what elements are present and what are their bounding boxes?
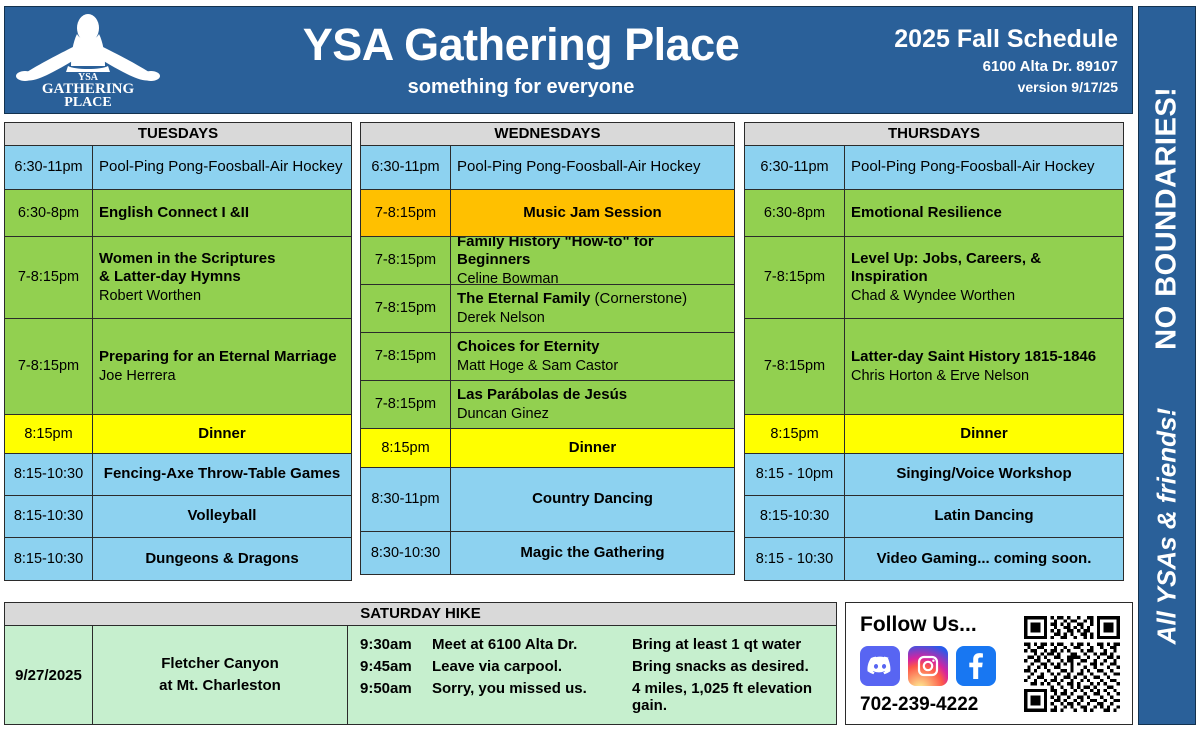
rows-tuesdays: 6:30-11pmPool-Ping Pong-Foosball-Air Hoc… xyxy=(5,146,351,580)
follow-us-title: Follow Us... xyxy=(860,613,1024,637)
schedule-row: 8:15-10:30Fencing-Axe Throw-Table Games xyxy=(5,454,351,496)
event-presenter: Derek Nelson xyxy=(457,309,545,327)
social-links xyxy=(860,646,1024,686)
side-banner-script: All YSAs & friends! xyxy=(1152,408,1183,644)
event-presenter: Chad & Wyndee Worthen xyxy=(851,287,1015,305)
column-thursdays: THURSDAYS 6:30-11pmPool-Ping Pong-Foosba… xyxy=(744,122,1124,581)
logo-text-place: PLACE xyxy=(64,95,111,108)
hike-item-time: 9:45am xyxy=(360,658,432,675)
rows-thursdays: 6:30-11pmPool-Ping Pong-Foosball-Air Hoc… xyxy=(745,146,1123,580)
qr-code-icon xyxy=(1024,616,1120,712)
row-content: English Connect I &II xyxy=(93,190,351,236)
ysa-gathering-place-logo-icon: YSA GATHERING PLACE xyxy=(13,12,163,108)
event-title: Volleyball xyxy=(188,507,257,525)
row-content: Music Jam Session xyxy=(451,190,734,236)
event-title: Preparing for an Eternal Marriage xyxy=(99,348,337,366)
event-title: Dungeons & Dragons xyxy=(145,550,298,568)
schedule-row: 8:30-10:30Magic the Gathering xyxy=(361,532,734,574)
event-title: The Eternal Family (Cornerstone) xyxy=(457,290,687,308)
row-time: 7-8:15pm xyxy=(361,285,451,332)
schedule-row: 7-8:15pmThe Eternal Family (Cornerstone)… xyxy=(361,285,734,333)
page-title: YSA Gathering Place xyxy=(170,21,872,68)
row-time: 7-8:15pm xyxy=(361,190,451,236)
event-title: Dinner xyxy=(569,439,617,457)
schedule-row: 7-8:15pmLas Parábolas de JesúsDuncan Gin… xyxy=(361,381,734,429)
row-content: Women in the Scriptures& Latter-day Hymn… xyxy=(93,237,351,318)
event-title: Singing/Voice Workshop xyxy=(896,465,1071,483)
hike-item-time: 9:50am xyxy=(360,680,432,714)
schedule-row: 7-8:15pmPreparing for an Eternal Marriag… xyxy=(5,319,351,415)
schedule-row: 6:30-8pmEmotional Resilience xyxy=(745,190,1123,237)
event-title: Pool-Ping Pong-Foosball-Air Hockey xyxy=(457,158,700,176)
event-title: Emotional Resilience xyxy=(851,204,1002,222)
row-time: 8:15-10:30 xyxy=(5,454,93,495)
hike-schedule-item: 9:50amSorry, you missed us.4 miles, 1,02… xyxy=(360,680,836,714)
row-content: Dinner xyxy=(451,429,734,467)
hike-schedule-list: 9:30amMeet at 6100 Alta Dr.Bring at leas… xyxy=(348,626,836,724)
event-presenter: Duncan Ginez xyxy=(457,405,549,423)
schedule-row: 8:15 - 10:30Video Gaming... coming soon. xyxy=(745,538,1123,580)
row-time: 7-8:15pm xyxy=(745,319,845,414)
row-content: Volleyball xyxy=(93,496,351,537)
row-content: Pool-Ping Pong-Foosball-Air Hockey xyxy=(845,146,1123,189)
schedule-row: 6:30-11pmPool-Ping Pong-Foosball-Air Hoc… xyxy=(361,146,734,190)
column-header-wednesdays: WEDNESDAYS xyxy=(361,123,734,146)
facebook-icon[interactable] xyxy=(956,646,996,686)
row-time: 8:15pm xyxy=(5,415,93,453)
row-content: Pool-Ping Pong-Foosball-Air Hockey xyxy=(93,146,351,189)
row-time: 7-8:15pm xyxy=(745,237,845,318)
column-header-thursdays: THURSDAYS xyxy=(745,123,1123,146)
version-label: version 9/17/25 xyxy=(882,79,1118,95)
event-title: Video Gaming... coming soon. xyxy=(877,550,1092,568)
row-time: 7-8:15pm xyxy=(361,237,451,284)
event-title-line2: & Latter-day Hymns xyxy=(99,268,241,286)
row-time: 7-8:15pm xyxy=(5,319,93,414)
column-tuesdays: TUESDAYS 6:30-11pmPool-Ping Pong-Foosbal… xyxy=(4,122,352,581)
row-content: Pool-Ping Pong-Foosball-Air Hockey xyxy=(451,146,734,189)
rows-wednesdays: 6:30-11pmPool-Ping Pong-Foosball-Air Hoc… xyxy=(361,146,734,574)
event-title: English Connect I &II xyxy=(99,204,249,222)
hike-item-action: Sorry, you missed us. xyxy=(432,680,632,714)
row-time: 7-8:15pm xyxy=(361,333,451,380)
event-title: Level Up: Jobs, Careers, & Inspiration xyxy=(851,250,1117,287)
row-content: Dinner xyxy=(93,415,351,453)
row-content: Video Gaming... coming soon. xyxy=(845,538,1123,580)
row-content: Latin Dancing xyxy=(845,496,1123,537)
event-title: Dinner xyxy=(198,425,246,443)
schedule-row: 7-8:15pmMusic Jam Session xyxy=(361,190,734,237)
row-time: 8:30-10:30 xyxy=(361,532,451,574)
event-title: Music Jam Session xyxy=(523,204,661,222)
row-time: 8:15pm xyxy=(361,429,451,467)
hike-date: 9/27/2025 xyxy=(5,626,93,724)
event-presenter: Chris Horton & Erve Nelson xyxy=(851,367,1029,385)
discord-icon[interactable] xyxy=(860,646,900,686)
event-title: Pool-Ping Pong-Foosball-Air Hockey xyxy=(851,158,1094,176)
row-content: The Eternal Family (Cornerstone)Derek Ne… xyxy=(451,285,734,332)
schedule-row: 8:15pmDinner xyxy=(5,415,351,454)
row-content: Country Dancing xyxy=(451,468,734,531)
schedule-row: 8:15-10:30Dungeons & Dragons xyxy=(5,538,351,580)
schedule-row: 8:15pmDinner xyxy=(361,429,734,468)
hike-item-action: Leave via carpool. xyxy=(432,658,632,675)
title-block: YSA Gathering Place something for everyo… xyxy=(170,21,882,99)
schedule-row: 6:30-8pmEnglish Connect I &II xyxy=(5,190,351,237)
row-time: 6:30-11pm xyxy=(361,146,451,189)
row-content: Dinner xyxy=(845,415,1123,453)
hike-item-note: Bring snacks as desired. xyxy=(632,658,836,675)
schedule-row: 7-8:15pmLevel Up: Jobs, Careers, & Inspi… xyxy=(745,237,1123,319)
row-content: Emotional Resilience xyxy=(845,190,1123,236)
follow-us-box: Follow Us... xyxy=(845,602,1133,725)
hike-item-time: 9:30am xyxy=(360,636,432,653)
day-columns: TUESDAYS 6:30-11pmPool-Ping Pong-Foosbal… xyxy=(4,122,1133,595)
event-title: Country Dancing xyxy=(532,490,653,508)
row-content: Magic the Gathering xyxy=(451,532,734,574)
schedule-poster: YSA GATHERING PLACE YSA Gathering Place … xyxy=(0,0,1200,731)
schedule-row: 8:15-10:30Latin Dancing xyxy=(745,496,1123,538)
row-content: Family History "How-to" for BeginnersCel… xyxy=(451,237,734,284)
phone-number: 702-239-4222 xyxy=(860,694,1024,716)
qr-code[interactable] xyxy=(1024,616,1120,712)
row-content: Las Parábolas de JesúsDuncan Ginez xyxy=(451,381,734,428)
event-title: Dinner xyxy=(960,425,1008,443)
page-header: YSA GATHERING PLACE YSA Gathering Place … xyxy=(4,6,1133,114)
schedule-row: 7-8:15pmChoices for EternityMatt Hoge & … xyxy=(361,333,734,381)
row-content: Choices for EternityMatt Hoge & Sam Cast… xyxy=(451,333,734,380)
event-title: Las Parábolas de Jesús xyxy=(457,386,627,404)
event-presenter: Robert Worthen xyxy=(99,287,201,305)
instagram-icon[interactable] xyxy=(908,646,948,686)
side-banner: All YSAs & friends! NO BOUNDARIES! xyxy=(1138,6,1196,725)
row-time: 8:15-10:30 xyxy=(745,496,845,537)
row-time: 6:30-8pm xyxy=(745,190,845,236)
event-title-suffix: (Cornerstone) xyxy=(590,290,687,307)
saturday-hike-box: SATURDAY HIKE 9/27/2025 Fletcher Canyon … xyxy=(4,602,837,725)
event-title: Latin Dancing xyxy=(934,507,1033,525)
schedule-row: 8:15pmDinner xyxy=(745,415,1123,454)
row-time: 6:30-11pm xyxy=(5,146,93,189)
event-title: Latter-day Saint History 1815-1846 xyxy=(851,348,1096,366)
hike-location: Fletcher Canyon at Mt. Charleston xyxy=(93,626,348,724)
hike-header: SATURDAY HIKE xyxy=(5,603,836,626)
row-content: Dungeons & Dragons xyxy=(93,538,351,580)
event-title: Magic the Gathering xyxy=(520,544,664,562)
row-content: Fencing-Axe Throw-Table Games xyxy=(93,454,351,495)
event-presenter: Matt Hoge & Sam Castor xyxy=(457,357,618,375)
schedule-row: 7-8:15pmFamily History "How-to" for Begi… xyxy=(361,237,734,285)
row-time: 7-8:15pm xyxy=(361,381,451,428)
row-time: 8:15 - 10:30 xyxy=(745,538,845,580)
row-time: 8:30-11pm xyxy=(361,468,451,531)
hike-item-note: 4 miles, 1,025 ft elevation gain. xyxy=(632,680,836,714)
schedule-row: 6:30-11pmPool-Ping Pong-Foosball-Air Hoc… xyxy=(745,146,1123,190)
row-content: Singing/Voice Workshop xyxy=(845,454,1123,495)
schedule-row: 6:30-11pmPool-Ping Pong-Foosball-Air Hoc… xyxy=(5,146,351,190)
bottom-section: SATURDAY HIKE 9/27/2025 Fletcher Canyon … xyxy=(4,602,1133,725)
season-label: 2025 Fall Schedule xyxy=(882,25,1118,54)
hike-schedule-item: 9:30amMeet at 6100 Alta Dr.Bring at leas… xyxy=(360,636,836,653)
side-banner-bold: NO BOUNDARIES! xyxy=(1151,87,1184,350)
schedule-row: 7-8:15pmLatter-day Saint History 1815-18… xyxy=(745,319,1123,415)
row-time: 6:30-11pm xyxy=(745,146,845,189)
event-title: Women in the Scriptures xyxy=(99,250,275,268)
event-title: Family History "How-to" for Beginners xyxy=(457,237,728,270)
column-header-tuesdays: TUESDAYS xyxy=(5,123,351,146)
page-subtitle: something for everyone xyxy=(170,76,872,99)
row-time: 6:30-8pm xyxy=(5,190,93,236)
row-time: 8:15-10:30 xyxy=(5,538,93,580)
row-time: 8:15pm xyxy=(745,415,845,453)
row-content: Preparing for an Eternal MarriageJoe Her… xyxy=(93,319,351,414)
schedule-row: 8:15-10:30Volleyball xyxy=(5,496,351,538)
hike-location-line2: at Mt. Charleston xyxy=(159,675,281,697)
row-time: 7-8:15pm xyxy=(5,237,93,318)
hike-item-action: Meet at 6100 Alta Dr. xyxy=(432,636,632,653)
schedule-row: 7-8:15pmWomen in the Scriptures& Latter-… xyxy=(5,237,351,319)
row-time: 8:15-10:30 xyxy=(5,496,93,537)
address-label: 6100 Alta Dr. 89107 xyxy=(882,58,1118,75)
header-meta: 2025 Fall Schedule 6100 Alta Dr. 89107 v… xyxy=(882,25,1132,95)
row-time: 8:15 - 10pm xyxy=(745,454,845,495)
schedule-row: 8:15 - 10pmSinging/Voice Workshop xyxy=(745,454,1123,496)
row-content: Latter-day Saint History 1815-1846Chris … xyxy=(845,319,1123,414)
hike-item-note: Bring at least 1 qt water xyxy=(632,636,836,653)
hike-location-line1: Fletcher Canyon xyxy=(161,653,279,675)
event-title: Choices for Eternity xyxy=(457,338,600,356)
event-title: Pool-Ping Pong-Foosball-Air Hockey xyxy=(99,158,342,176)
logo: YSA GATHERING PLACE xyxy=(5,8,170,112)
row-content: Level Up: Jobs, Careers, & InspirationCh… xyxy=(845,237,1123,318)
event-presenter: Celine Bowman xyxy=(457,270,559,285)
column-wednesdays: WEDNESDAYS 6:30-11pmPool-Ping Pong-Foosb… xyxy=(360,122,735,575)
event-presenter: Joe Herrera xyxy=(99,367,176,385)
hike-schedule-item: 9:45amLeave via carpool.Bring snacks as … xyxy=(360,658,836,675)
schedule-row: 8:30-11pmCountry Dancing xyxy=(361,468,734,532)
event-title: Fencing-Axe Throw-Table Games xyxy=(104,465,340,483)
